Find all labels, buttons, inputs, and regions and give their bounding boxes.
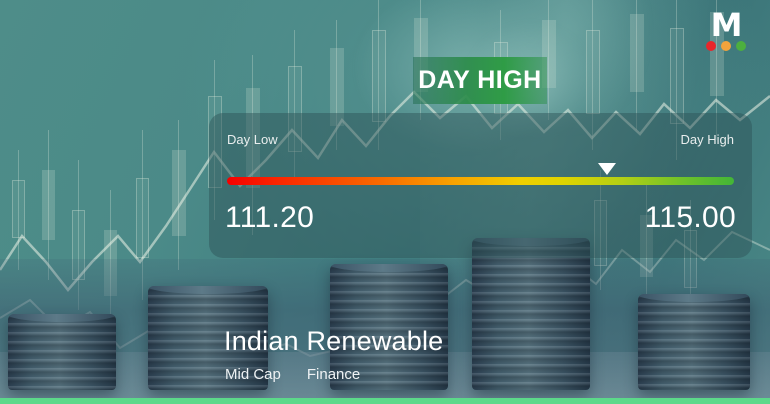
logo-dot-green [736, 41, 746, 51]
bottom-accent-strip [0, 398, 770, 404]
day-high-banner: DAY HIGH [413, 57, 547, 104]
logo-dot-orange [721, 41, 731, 51]
current-price-marker[interactable] [598, 163, 616, 175]
coin-stack-1 [8, 314, 116, 390]
day-high-label: Day High [681, 132, 734, 147]
logo-dot-red [706, 41, 716, 51]
moneycontrol-logo[interactable]: M [698, 10, 754, 50]
day-high-banner-label: DAY HIGH [418, 66, 541, 95]
stock-tags: Mid Cap Finance [225, 366, 360, 383]
day-range-gradient-bar [227, 177, 734, 185]
stock-tag-market-cap: Mid Cap [225, 366, 281, 383]
day-low-value: 111.20 [225, 201, 314, 235]
logo-dots [698, 41, 754, 51]
logo-m-mark: M [698, 10, 754, 40]
stock-name: Indian Renewable [224, 326, 443, 357]
screenshot-stage: M DAY HIGH Day Low Day High 111.20 115.0… [0, 0, 770, 404]
day-high-value: 115.00 [645, 201, 736, 235]
day-range-panel: Day Low Day High 111.20 115.00 [209, 113, 752, 258]
day-low-label: Day Low [227, 132, 278, 147]
stock-tag-sector: Finance [307, 366, 360, 383]
coin-stack-5 [638, 294, 750, 390]
day-range-slider[interactable] [227, 177, 734, 185]
coin-stack-4 [472, 238, 590, 390]
